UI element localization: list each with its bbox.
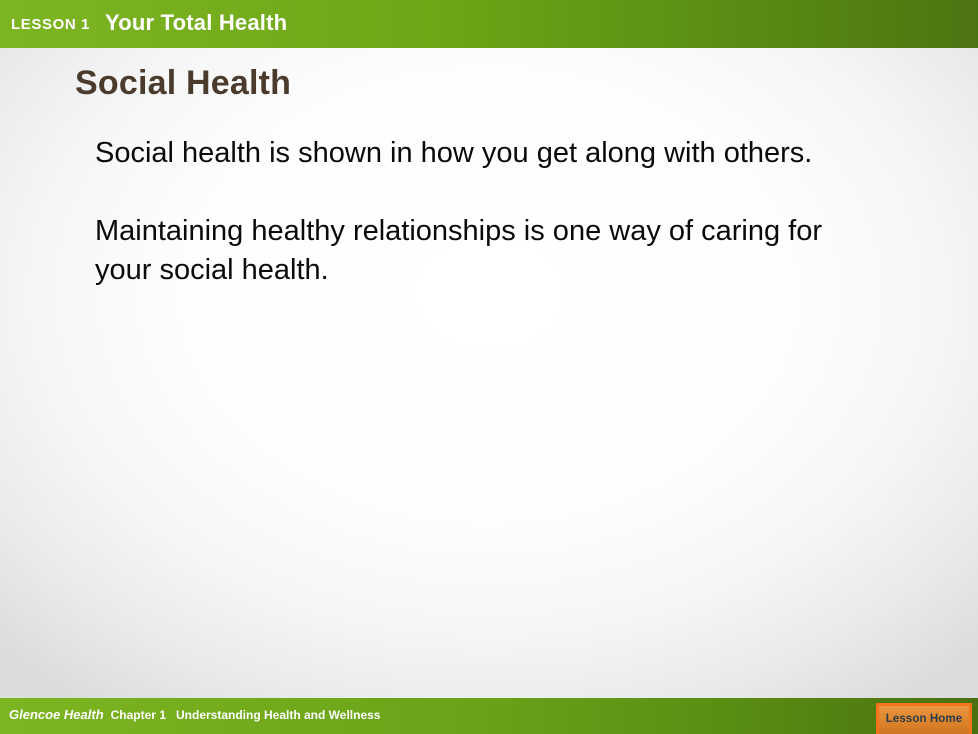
body-paragraph-2: Maintaining healthy relationships is one…: [95, 212, 885, 290]
lesson-home-button[interactable]: Lesson Home: [876, 703, 972, 734]
slide-header-bar: LESSON 1 Your Total Health: [0, 0, 978, 48]
footer-brand-name: Glencoe Health: [9, 707, 104, 722]
footer-chapter-number: Chapter 1: [111, 708, 166, 722]
slide-content-area: Social Health Social health is shown in …: [0, 48, 978, 698]
slide-body-text: Social health is shown in how you get al…: [95, 134, 885, 290]
page-title: Social Health: [75, 64, 291, 103]
lesson-title: Your Total Health: [105, 10, 287, 36]
footer-credit-line: Glencoe HealthChapter 1Understanding Hea…: [9, 706, 380, 724]
footer-chapter-title: Understanding Health and Wellness: [176, 708, 380, 722]
lesson-number-label: LESSON 1: [11, 16, 90, 33]
slide-footer-bar: Glencoe HealthChapter 1Understanding Hea…: [0, 698, 978, 734]
body-paragraph-1: Social health is shown in how you get al…: [95, 134, 885, 173]
presentation-slide: LESSON 1 Your Total Health Social Health…: [0, 0, 978, 734]
